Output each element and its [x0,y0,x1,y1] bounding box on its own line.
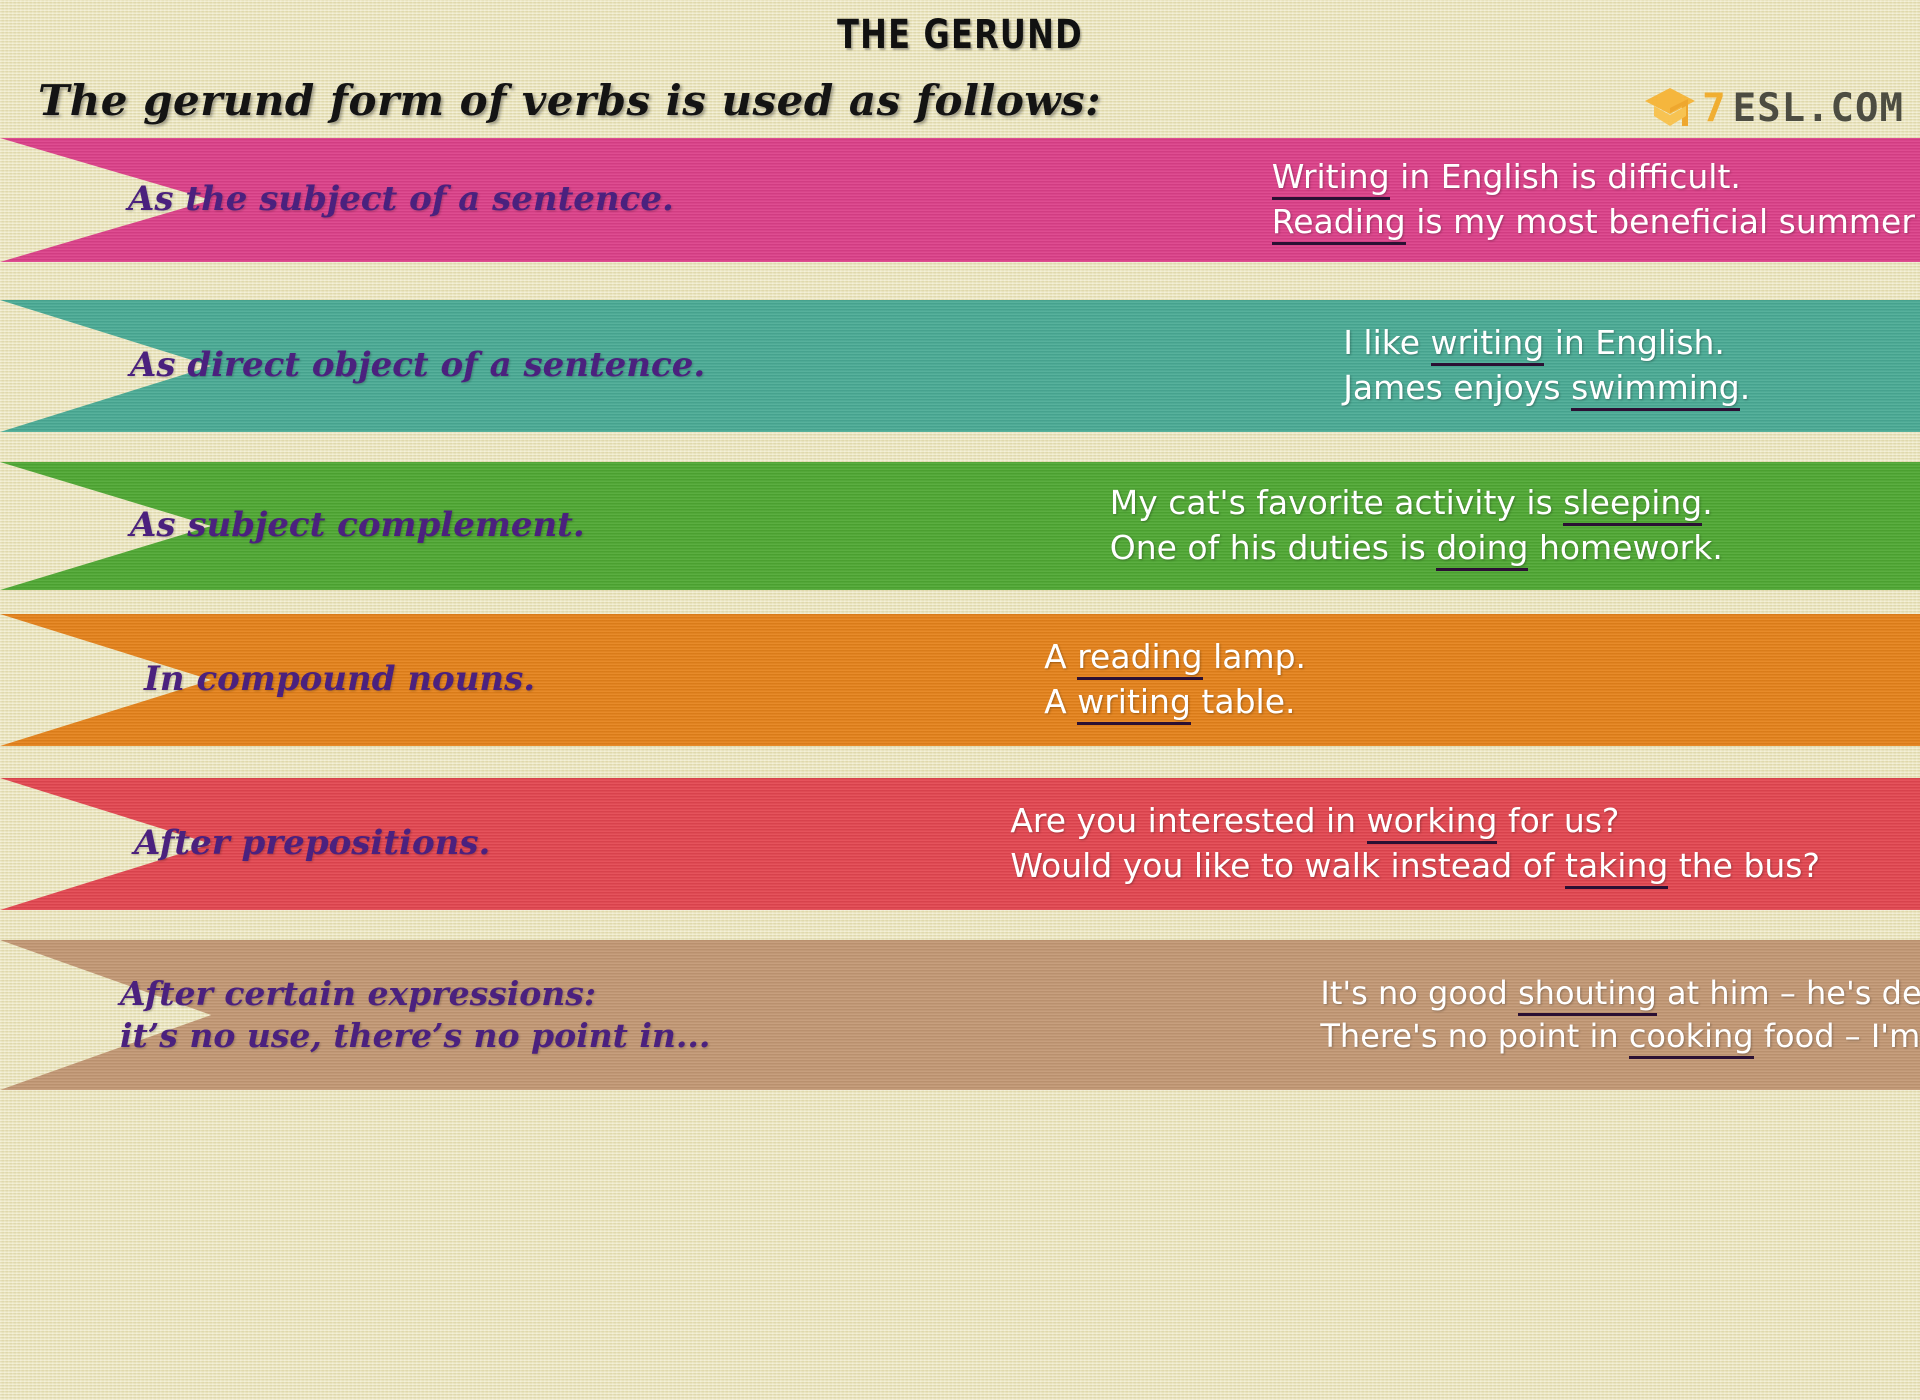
banner-label-4: After prepositions. [134,822,490,866]
banner-examples-1: I like writing in English.James enjoys s… [1343,321,1750,410]
banner-row-4: After prepositions.Are you interested in… [0,778,1920,910]
example-sentence: Would you like to walk instead of taking… [1010,844,1820,889]
banner-content: After prepositions.Are you interested in… [0,778,1920,910]
example-text: in English is difficult. [1390,157,1741,196]
logo-seven: 7 [1702,89,1726,128]
banner-examples-0: Writing in English is difficult.Reading … [1272,155,1920,244]
banner-label-line: After certain expressions: [120,973,710,1015]
banner-label-5: After certain expressions:it’s no use, t… [120,973,710,1057]
banner-row-1: As direct object of a sentence.I like wr… [0,300,1920,432]
example-sentence: A reading lamp. [1044,635,1306,680]
banner-row-0: As the subject of a sentence.Writing in … [0,138,1920,262]
example-sentence: Reading is my most beneficial summer act… [1272,200,1920,245]
gerund-highlight: reading [1077,637,1202,680]
gerund-highlight: writing [1431,323,1545,366]
banner-label-1: As direct object of a sentence. [130,344,705,388]
example-sentence: It's no good shouting at him – he's deaf… [1320,972,1920,1015]
example-sentence: There's no point in cooking food – I'm n… [1320,1015,1920,1058]
example-text: I like [1343,323,1430,362]
banner-examples-5: It's no good shouting at him – he's deaf… [1320,972,1920,1058]
example-text: table. [1191,682,1296,721]
banner-examples-2: My cat's favorite activity is sleeping.O… [1110,481,1723,570]
banner-row-3: In compound nouns.A reading lamp.A writi… [0,614,1920,746]
example-text: A [1044,637,1077,676]
gerund-highlight: swimming [1571,368,1740,411]
banner-examples-3: A reading lamp.A writing table. [1044,635,1306,724]
example-text: . [1702,483,1713,522]
banner-label-0: As the subject of a sentence. [128,178,674,222]
banner-row-2: As subject complement.My cat's favorite … [0,462,1920,590]
gerund-highlight: working [1367,801,1498,844]
example-sentence: Writing in English is difficult. [1272,155,1920,200]
page-header: THE GERUND The gerund form of verbs is u… [0,0,1920,132]
banner-label-line: In compound nouns. [144,658,535,702]
example-text: in English. [1544,323,1725,362]
banner-content: After certain expressions:it’s no use, t… [0,940,1920,1090]
example-text: . [1740,368,1751,407]
banner-row-5: After certain expressions:it’s no use, t… [0,940,1920,1090]
banner-label-line: As the subject of a sentence. [128,178,674,222]
banner-label-line: After prepositions. [134,822,490,866]
example-text: Are you interested in [1010,801,1366,840]
gerund-highlight: taking [1565,846,1668,889]
page-subtitle: The gerund form of verbs is used as foll… [38,76,1101,125]
example-sentence: My cat's favorite activity is sleeping. [1110,481,1723,526]
banner-label-3: In compound nouns. [144,658,535,702]
example-text: lamp. [1203,637,1306,676]
example-text: the bus? [1668,846,1820,885]
banner-examples-4: Are you interested in working for us?Wou… [1010,799,1820,888]
example-text: A [1044,682,1077,721]
example-text: James enjoys [1343,368,1571,407]
banner-content: As the subject of a sentence.Writing in … [0,138,1920,262]
example-text: food – I'm not hungry. [1754,1017,1920,1055]
example-text: My cat's favorite activity is [1110,483,1564,522]
example-text: is my most beneficial summer activity. [1406,202,1920,241]
example-text: It's no good [1320,974,1518,1012]
example-text: homework. [1528,528,1722,567]
example-text: Would you like to walk instead of [1010,846,1565,885]
example-text: for us? [1497,801,1619,840]
gerund-highlight: Writing [1272,157,1390,200]
banner-label-2: As subject complement. [130,504,585,548]
example-sentence: I like writing in English. [1343,321,1750,366]
example-text: There's no point in [1320,1017,1628,1055]
logo-name: ESL.COM [1733,89,1904,128]
gerund-highlight: doing [1436,528,1528,571]
example-sentence: One of his duties is doing homework. [1110,526,1723,571]
example-text: at him – he's deaf. [1657,974,1920,1012]
gerund-highlight: Reading [1272,202,1406,245]
banner-label-line: As subject complement. [130,504,585,548]
gerund-highlight: cooking [1629,1017,1754,1059]
graduation-cap-icon [1644,86,1696,130]
gerund-highlight: sleeping [1563,483,1702,526]
example-text: One of his duties is [1110,528,1437,567]
banner-content: As direct object of a sentence.I like wr… [0,300,1920,432]
example-sentence: Are you interested in working for us? [1010,799,1820,844]
gerund-highlight: shouting [1518,974,1657,1016]
gerund-highlight: writing [1077,682,1191,725]
banner-label-line: it’s no use, there’s no point in... [120,1015,710,1057]
banner-content: As subject complement.My cat's favorite … [0,462,1920,590]
site-logo[interactable]: 7 ESL.COM [1644,84,1904,132]
banner-label-line: As direct object of a sentence. [130,344,705,388]
example-sentence: James enjoys swimming. [1343,366,1750,411]
example-sentence: A writing table. [1044,680,1306,725]
banner-content: In compound nouns.A reading lamp.A writi… [0,614,1920,746]
page-title: THE GERUND [192,12,1728,58]
